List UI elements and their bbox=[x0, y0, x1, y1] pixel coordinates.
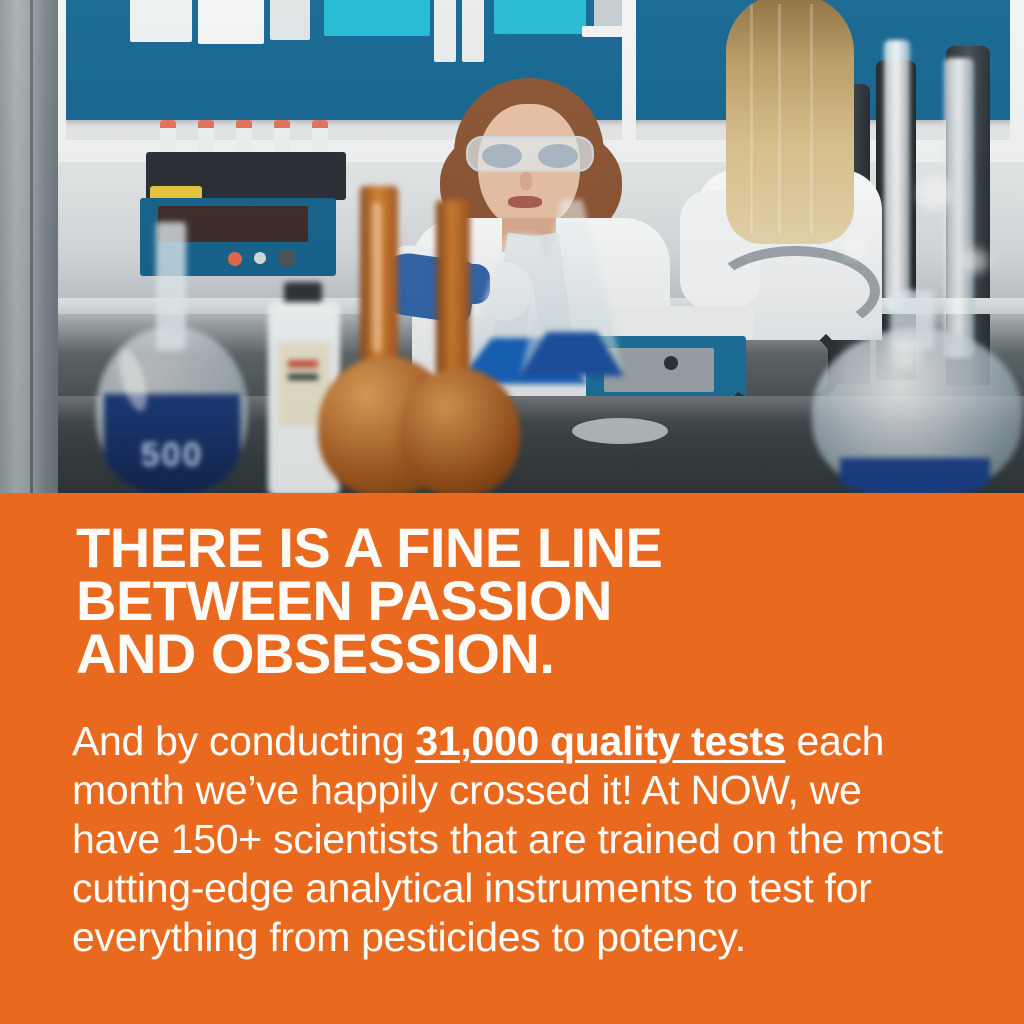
instrument-dial bbox=[664, 356, 678, 370]
petri-dish bbox=[572, 418, 668, 444]
flask-bulb bbox=[400, 368, 520, 493]
page-title: THERE IS A FINE LINE BETWEEN PASSION AND… bbox=[76, 521, 956, 680]
bokeh-highlight bbox=[890, 340, 920, 370]
headline-line-3: AND OBSESSION. bbox=[76, 627, 956, 680]
scientist-right bbox=[690, 0, 880, 324]
shelf-box bbox=[270, 0, 310, 40]
shelf-box bbox=[198, 0, 264, 44]
lab-photo: 500 bbox=[0, 0, 1024, 493]
amber-flask bbox=[400, 200, 520, 493]
erlenmeyer-flask-blue bbox=[520, 200, 624, 376]
orange-text-panel: THERE IS A FINE LINE BETWEEN PASSION AND… bbox=[0, 493, 1024, 1024]
shelf-bottle-cyan bbox=[494, 0, 586, 34]
flask-neck bbox=[436, 200, 470, 386]
shelf-bottle-cyan bbox=[324, 0, 430, 36]
bokeh-highlight bbox=[962, 248, 988, 274]
shelf-bottle bbox=[434, 0, 456, 62]
volumetric-flask-500: 500 bbox=[86, 222, 262, 493]
shelf-box bbox=[130, 0, 192, 42]
blonde-hair bbox=[726, 0, 854, 244]
instrument-knob bbox=[278, 249, 296, 267]
body-text-part1: And by conducting bbox=[72, 718, 415, 764]
headline-line-1: THERE IS A FINE LINE bbox=[76, 521, 956, 574]
cabinet-rail bbox=[1010, 0, 1024, 150]
poster-root: 500 bbox=[0, 0, 1024, 1024]
goggle-lens bbox=[538, 144, 578, 168]
body-paragraph: And by conducting 31,000 quality tests e… bbox=[72, 717, 952, 962]
left-door-column bbox=[0, 0, 58, 493]
blue-liquid bbox=[840, 458, 990, 493]
flask-volume-label: 500 bbox=[114, 436, 230, 476]
glass-rod bbox=[884, 40, 910, 310]
nose bbox=[520, 172, 532, 190]
bokeh-glass-flask bbox=[812, 290, 1022, 493]
safety-goggles-icon bbox=[466, 136, 594, 172]
bokeh-highlight bbox=[918, 176, 952, 210]
shelf-bottle bbox=[462, 0, 484, 62]
bokeh-highlight bbox=[844, 236, 866, 258]
label-stripe bbox=[288, 360, 318, 368]
label-stripe bbox=[288, 374, 318, 380]
glass-highlight bbox=[372, 202, 382, 352]
highlighted-stat: 31,000 quality tests bbox=[415, 718, 785, 764]
goggle-lens bbox=[482, 144, 522, 168]
headline-line-2: BETWEEN PASSION bbox=[76, 574, 956, 627]
